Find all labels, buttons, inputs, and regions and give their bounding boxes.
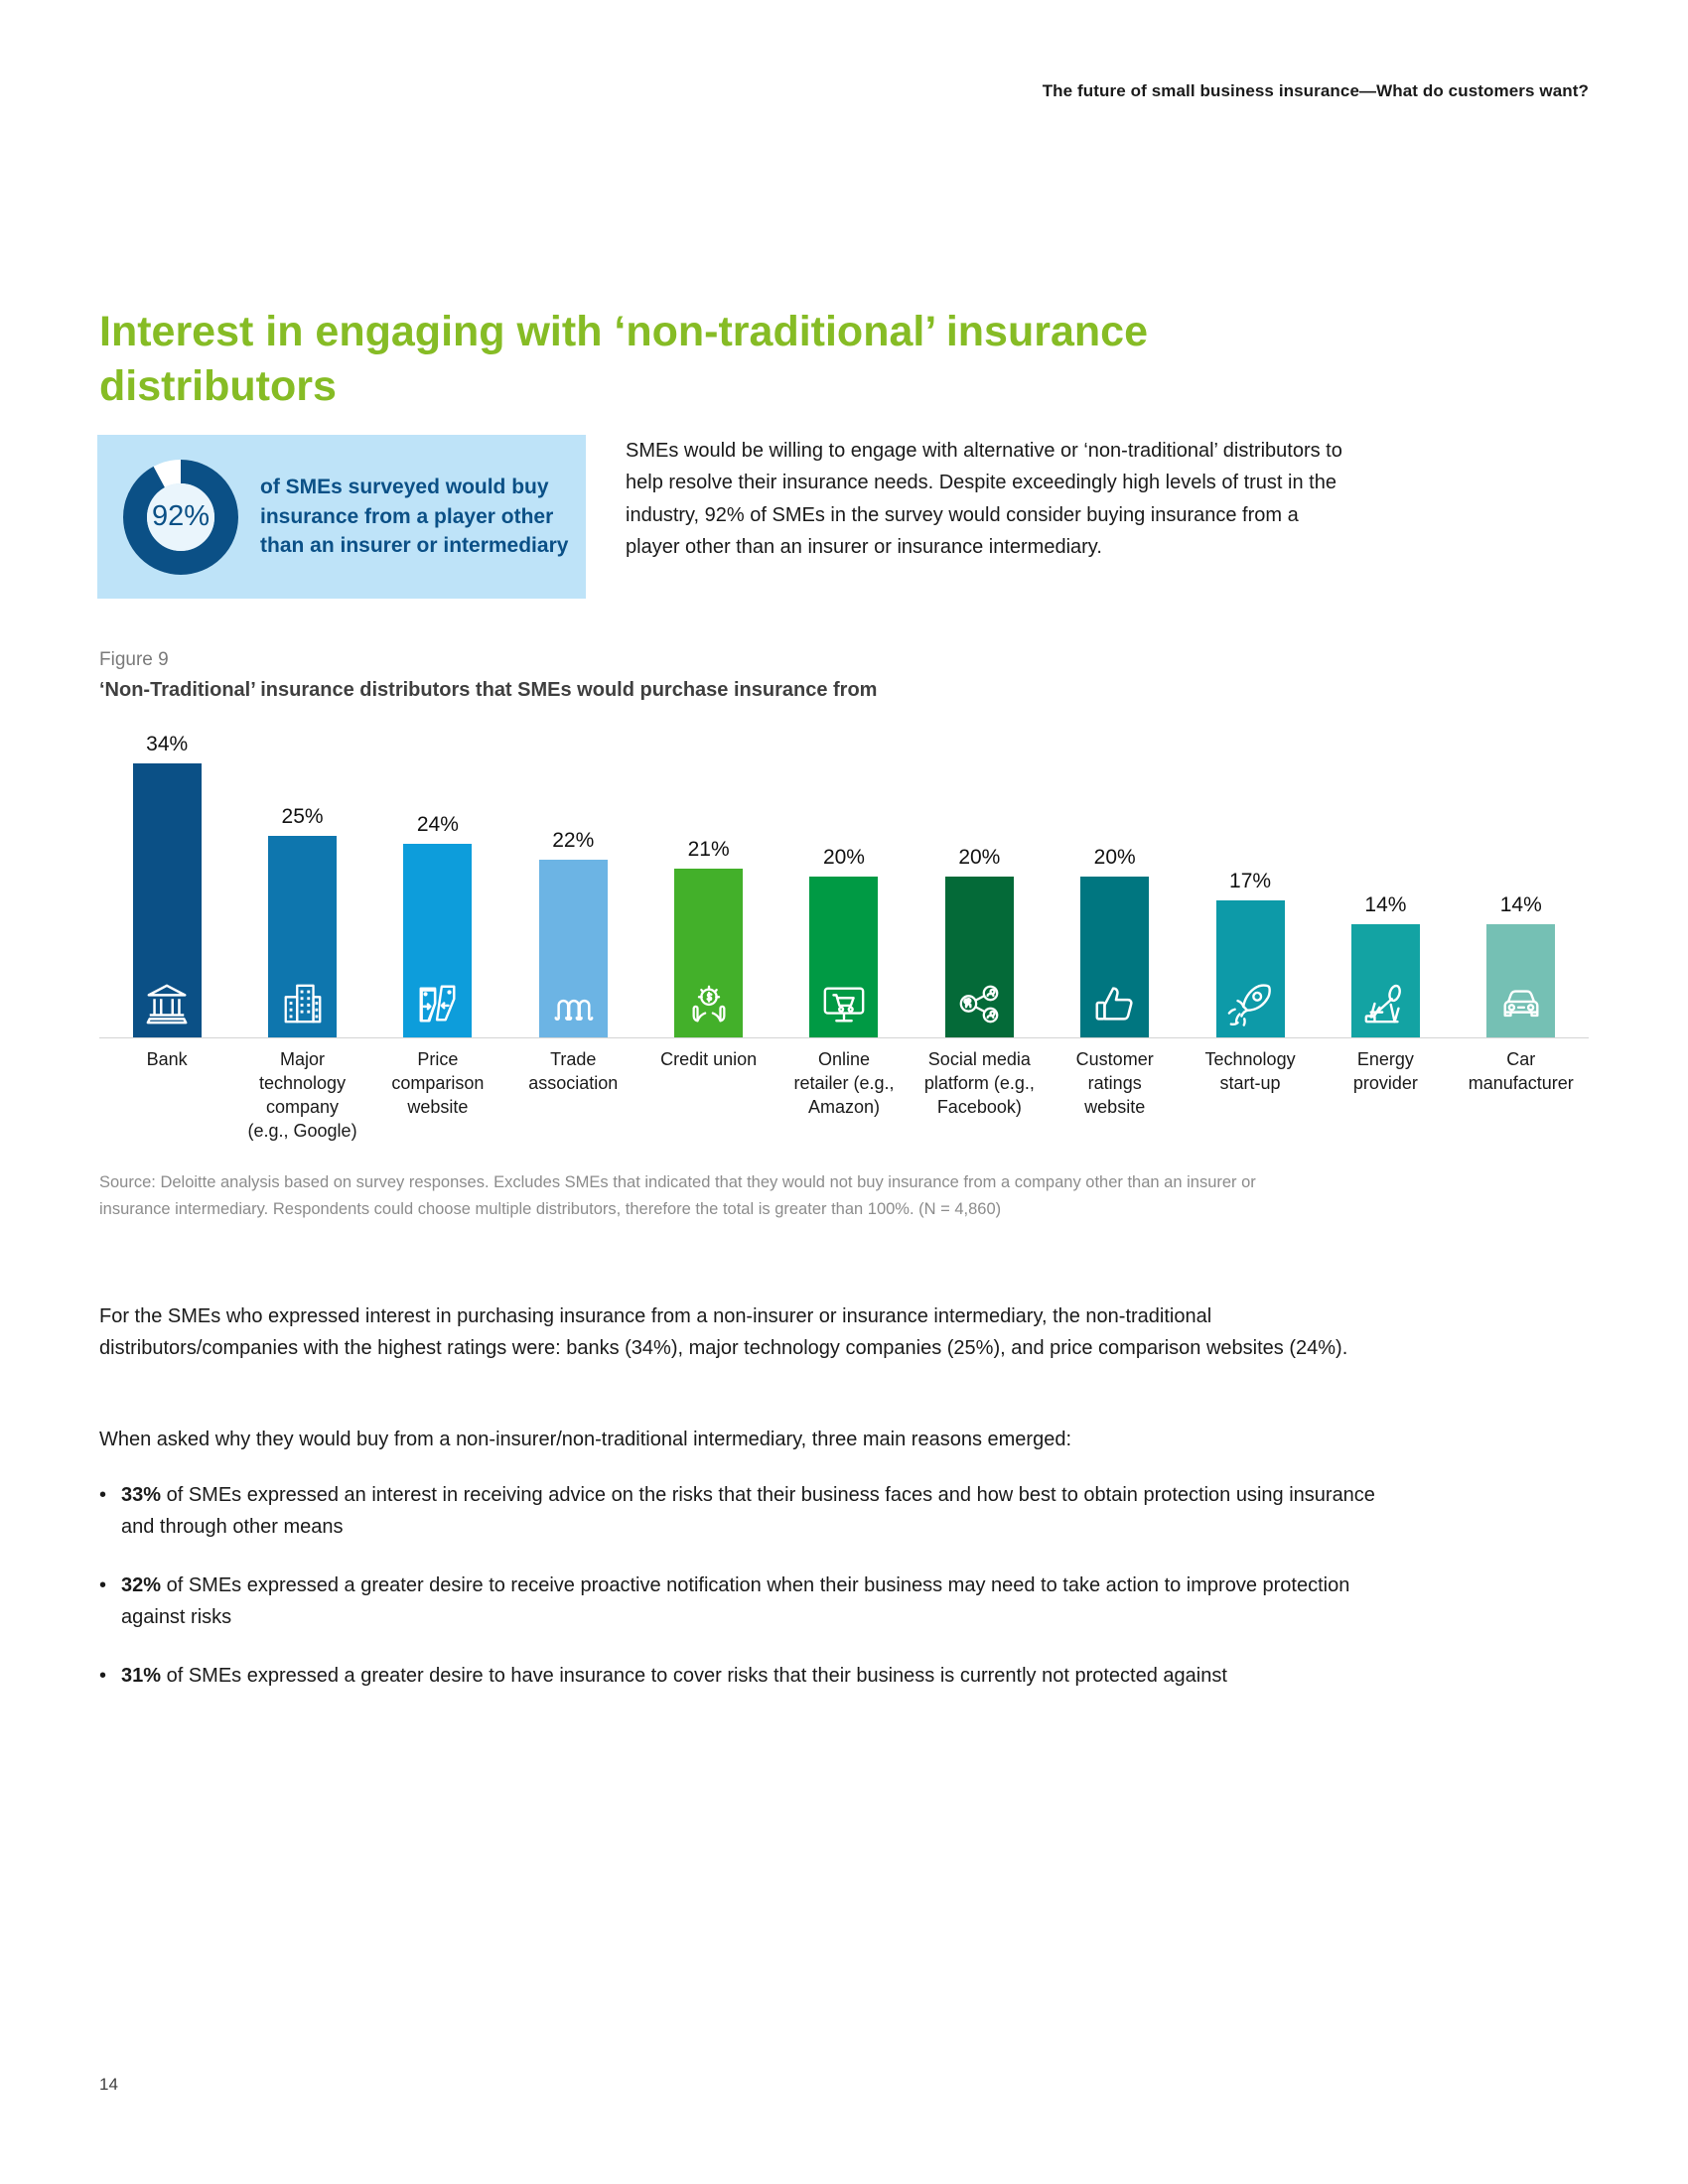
car-icon bbox=[1498, 981, 1544, 1026]
x-axis-label: Bank bbox=[99, 1048, 234, 1072]
x-axis-label: Price comparison website bbox=[370, 1048, 505, 1120]
chart-bar-group: 34% bbox=[99, 720, 234, 1037]
chart-bar-group: 14% bbox=[1454, 720, 1589, 1037]
bullet-marker: • bbox=[99, 1660, 121, 1692]
x-axis-label: Customer ratings website bbox=[1048, 1048, 1183, 1120]
x-axis-label: Major technology company (e.g., Google) bbox=[234, 1048, 369, 1144]
chart-bar-group: 20% bbox=[912, 720, 1047, 1037]
thumbs-up-icon bbox=[1092, 981, 1138, 1026]
bar-value-label: 24% bbox=[417, 813, 459, 837]
chart-bar bbox=[1486, 924, 1555, 1037]
running-header: The future of small business insurance—W… bbox=[1043, 81, 1589, 101]
reasons-bullet-list: •33% of SMEs expressed an interest in re… bbox=[99, 1479, 1410, 1717]
chart-bar bbox=[674, 869, 743, 1038]
bar-value-label: 20% bbox=[823, 846, 865, 870]
bar-value-label: 14% bbox=[1364, 893, 1406, 917]
chart-plot-area: 34%25%24%22%21%20%20%20%17%14%14% bbox=[99, 720, 1589, 1038]
stat-callout: 92% of SMEs surveyed would buy insurance… bbox=[97, 435, 586, 599]
hands-holding-money-icon bbox=[686, 981, 732, 1026]
list-item: •33% of SMEs expressed an interest in re… bbox=[99, 1479, 1410, 1544]
bar-value-label: 21% bbox=[688, 838, 730, 862]
chart-bar-group: 21% bbox=[640, 720, 775, 1037]
chart-bar bbox=[403, 844, 472, 1037]
bar-chart: 34%25%24%22%21%20%20%20%17%14%14% bbox=[99, 721, 1589, 1038]
donut-percent-label: 92% bbox=[119, 456, 242, 579]
x-axis-label: Online retailer (e.g., Amazon) bbox=[776, 1048, 912, 1120]
list-item-text: 32% of SMEs expressed a greater desire t… bbox=[121, 1570, 1410, 1634]
x-axis-label: Trade association bbox=[505, 1048, 640, 1096]
list-item-stat: 33% bbox=[121, 1484, 161, 1506]
chart-bar-group: 14% bbox=[1318, 720, 1453, 1037]
chart-x-axis-labels: BankMajor technology company (e.g., Goog… bbox=[99, 1048, 1589, 1144]
chart-bar bbox=[539, 860, 608, 1037]
chart-bar bbox=[945, 877, 1014, 1037]
monitor-shopping-cart-icon bbox=[821, 981, 867, 1026]
page-title: Interest in engaging with ‘non-tradition… bbox=[99, 305, 1271, 414]
chart-bar bbox=[268, 836, 337, 1037]
x-axis-label: Credit union bbox=[640, 1048, 775, 1072]
page-number: 14 bbox=[99, 2075, 118, 2095]
list-item-text: 31% of SMEs expressed a greater desire t… bbox=[121, 1660, 1410, 1692]
chart-bar-group: 20% bbox=[776, 720, 912, 1037]
bar-value-label: 22% bbox=[552, 829, 594, 853]
chart-bar bbox=[1216, 900, 1285, 1037]
document-page: The future of small business insurance—W… bbox=[0, 0, 1688, 2184]
bullet-marker: • bbox=[99, 1570, 121, 1634]
list-item-text: 33% of SMEs expressed an interest in rec… bbox=[121, 1479, 1410, 1544]
chart-bar-group: 24% bbox=[370, 720, 505, 1037]
chart-bar bbox=[133, 763, 202, 1037]
chart-bar-group: 22% bbox=[505, 720, 640, 1037]
oil-pump-icon bbox=[1362, 981, 1408, 1026]
bar-value-label: 25% bbox=[282, 805, 324, 829]
bar-value-label: 20% bbox=[958, 846, 1000, 870]
bar-value-label: 20% bbox=[1094, 846, 1136, 870]
social-network-icon bbox=[956, 981, 1002, 1026]
donut-chart: 92% bbox=[119, 456, 242, 579]
figure-source-note: Source: Deloitte analysis based on surve… bbox=[99, 1169, 1311, 1222]
x-axis-label: Car manufacturer bbox=[1454, 1048, 1589, 1096]
list-item: •32% of SMEs expressed a greater desire … bbox=[99, 1570, 1410, 1634]
list-item: •31% of SMEs expressed a greater desire … bbox=[99, 1660, 1410, 1692]
chart-bar-group: 20% bbox=[1048, 720, 1183, 1037]
body-paragraph-1: For the SMEs who expressed interest in p… bbox=[99, 1300, 1390, 1365]
x-axis-label: Social media platform (e.g., Facebook) bbox=[912, 1048, 1047, 1120]
office-buildings-icon bbox=[280, 981, 326, 1026]
chart-bar bbox=[1351, 924, 1420, 1037]
body-paragraph-2: When asked why they would buy from a non… bbox=[99, 1424, 1390, 1455]
figure-number: Figure 9 bbox=[99, 649, 169, 671]
x-axis-label: Technology start-up bbox=[1183, 1048, 1318, 1096]
bar-value-label: 14% bbox=[1500, 893, 1542, 917]
callout-text: of SMEs surveyed would buy insurance fro… bbox=[260, 473, 576, 561]
list-item-stat: 31% bbox=[121, 1665, 161, 1687]
list-item-stat: 32% bbox=[121, 1574, 161, 1596]
people-group-icon bbox=[550, 981, 596, 1026]
bar-value-label: 34% bbox=[146, 733, 188, 756]
bar-value-label: 17% bbox=[1229, 870, 1271, 893]
chart-bar bbox=[1080, 877, 1149, 1037]
price-tags-icon bbox=[415, 981, 461, 1026]
chart-bar bbox=[809, 877, 878, 1037]
bullet-marker: • bbox=[99, 1479, 121, 1544]
chart-bar-group: 17% bbox=[1183, 720, 1318, 1037]
intro-paragraph: SMEs would be willing to engage with alt… bbox=[626, 435, 1350, 564]
bank-icon bbox=[144, 981, 190, 1026]
x-axis-label: Energy provider bbox=[1318, 1048, 1453, 1096]
rocket-icon bbox=[1227, 981, 1273, 1026]
chart-bar-group: 25% bbox=[234, 720, 369, 1037]
figure-title: ‘Non-Traditional’ insurance distributors… bbox=[99, 679, 877, 702]
